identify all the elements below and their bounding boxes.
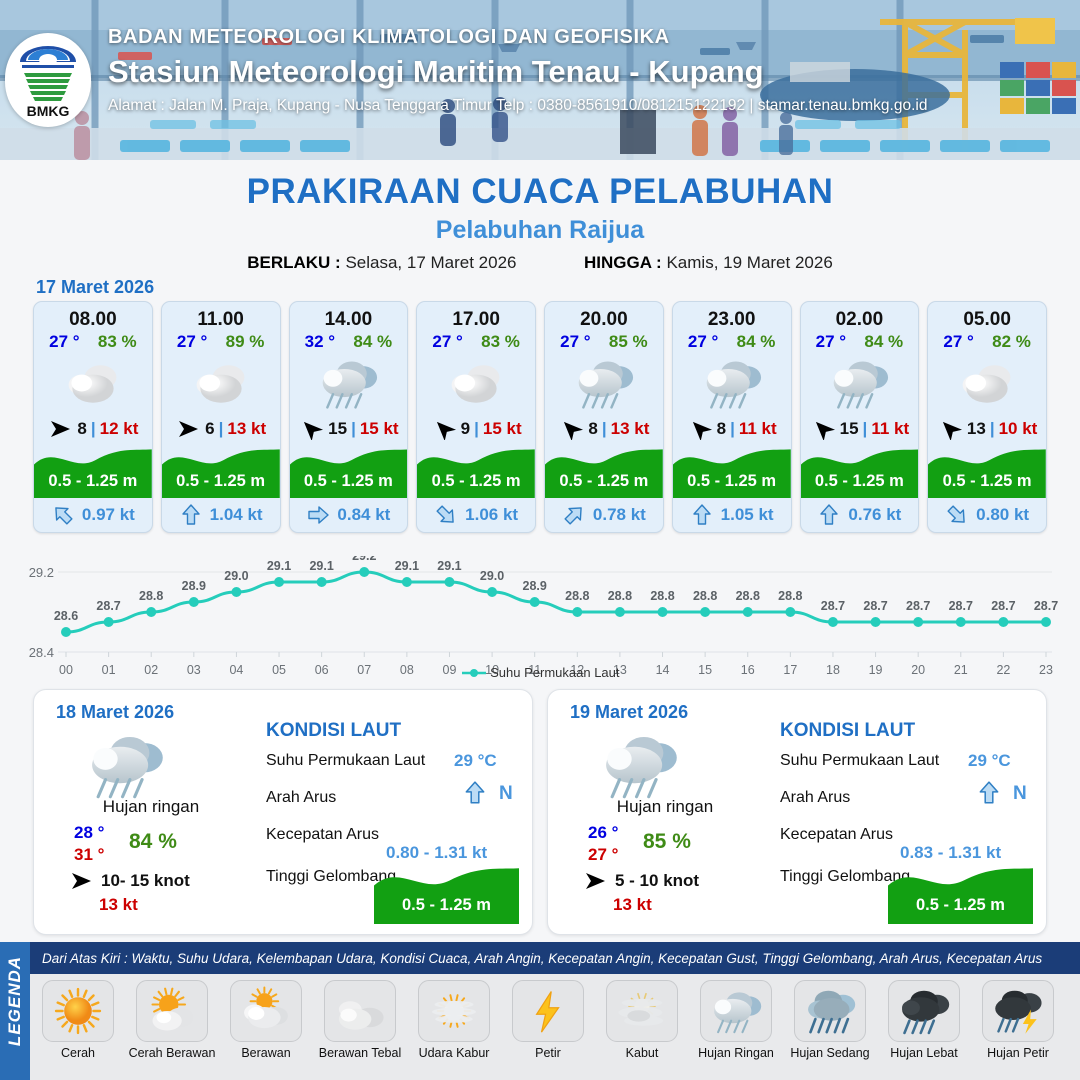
svg-text:28.7: 28.7	[821, 599, 845, 613]
card-wind-row: 13 | 10 kt	[928, 414, 1046, 444]
card-wind-speed: 8	[717, 419, 726, 439]
card-wave: 0.5 - 1.25 m	[290, 444, 408, 498]
daily-sst-value: 29 °C	[968, 751, 1011, 771]
daily-gust: 13 kt	[99, 895, 138, 915]
hourly-card[interactable]: 02.00 27 ° 84 % 15 | 11 kt 0.5 - 1.25 m	[800, 301, 920, 533]
legend-item-label: Udara Kabur	[410, 1046, 498, 1060]
daily-sea-title: KONDISI LAUT	[780, 720, 915, 742]
weather-icon-cloud-sun	[240, 985, 292, 1037]
legend-icon-row: Cerah Cerah Berawan Berawan Berawan Teba…	[34, 980, 1074, 1060]
daily-wave: 0.5 - 1.25 m	[374, 862, 519, 924]
daily-date: 19 Maret 2026	[570, 702, 688, 723]
chart-legend-label: Suhu Permukaan Laut	[490, 665, 619, 680]
weather-icon-light-rain	[318, 353, 378, 413]
svg-text:28.8: 28.8	[778, 589, 802, 603]
daily-current-dir-arrow	[976, 780, 1002, 811]
card-current-speed: 0.78 kt	[593, 505, 646, 525]
current-direction-arrow	[945, 503, 969, 527]
svg-text:28.6: 28.6	[54, 609, 78, 623]
card-wave: 0.5 - 1.25 m	[801, 444, 919, 498]
card-temp-hum-row: 27 ° 89 %	[162, 331, 280, 352]
svg-text:29.1: 29.1	[395, 559, 419, 573]
legend-item: Kabut	[598, 980, 686, 1060]
berlaku-value: Selasa, 17 Maret 2026	[345, 253, 516, 272]
card-wave-height: 0.5 - 1.25 m	[928, 472, 1046, 491]
card-humidity: 84 %	[864, 332, 903, 352]
weather-icon-light-rain	[574, 353, 634, 413]
legend-icon-box	[324, 980, 396, 1042]
wind-direction-arrow	[47, 418, 73, 440]
card-time: 20.00	[545, 302, 663, 331]
daily-humidity: 84 %	[129, 830, 177, 854]
card-current-speed: 0.97 kt	[82, 505, 135, 525]
legend-item-label: Petir	[504, 1046, 592, 1060]
weather-icon-fog	[616, 985, 668, 1037]
weather-icon-light-rain	[600, 726, 678, 804]
daily-current-dir-value: N	[499, 783, 513, 805]
legend-side-title: LEGENDA	[5, 947, 25, 1055]
card-gust: 15 kt	[360, 419, 399, 439]
card-wave-height: 0.5 - 1.25 m	[545, 472, 663, 491]
hourly-card[interactable]: 20.00 27 ° 85 % 8 | 13 kt 0.5 - 1.25 m	[544, 301, 664, 533]
card-temperature: 27 °	[432, 332, 462, 352]
card-temp-hum-row: 27 ° 82 %	[928, 331, 1046, 352]
card-wave: 0.5 - 1.25 m	[162, 444, 280, 498]
card-wind-row: 9 | 15 kt	[417, 414, 535, 444]
weather-icon-light-rain	[829, 353, 889, 413]
current-direction-arrow	[817, 503, 841, 527]
legend-icon-box	[794, 980, 866, 1042]
legend-item: Hujan Petir	[974, 980, 1062, 1060]
card-time: 02.00	[801, 302, 919, 331]
wind-direction-arrow	[431, 418, 457, 440]
card-wave: 0.5 - 1.25 m	[928, 444, 1046, 498]
page-header: BMKG BADAN METEOROLOGI KLIMATOLOGI DAN G…	[0, 0, 1080, 160]
hourly-card[interactable]: 08.00 27 ° 83 % 8 | 12 kt 0.5 - 1.25 m	[33, 301, 153, 533]
card-wind-speed: 13	[967, 419, 986, 439]
svg-text:BMKG: BMKG	[27, 103, 70, 119]
card-weather-icon	[417, 352, 535, 414]
card-time: 11.00	[162, 302, 280, 331]
legend-item-label: Cerah	[34, 1046, 122, 1060]
svg-text:28.8: 28.8	[693, 589, 717, 603]
daily-panel[interactable]: 18 Maret 2026 Hujan ringan 28 ° 31 ° 84 …	[33, 689, 533, 935]
card-wave-height: 0.5 - 1.25 m	[290, 472, 408, 491]
hingga-label: HINGGA :	[584, 253, 662, 272]
svg-text:28.4: 28.4	[29, 645, 54, 660]
card-wind-speed: 9	[461, 419, 470, 439]
legend-icon-box	[136, 980, 208, 1042]
card-current-speed: 0.84 kt	[337, 505, 390, 525]
card-wind-separator: |	[990, 419, 995, 439]
legend-item: Hujan Lebat	[880, 980, 968, 1060]
daily-temp-min: 26 °	[588, 823, 618, 843]
daily-gust: 13 kt	[613, 895, 652, 915]
card-current-row: 0.80 kt	[928, 498, 1046, 532]
wind-direction-arrow	[298, 418, 324, 440]
card-time: 17.00	[417, 302, 535, 331]
card-wave-height: 0.5 - 1.25 m	[801, 472, 919, 491]
card-weather-icon	[801, 352, 919, 414]
card-wave: 0.5 - 1.25 m	[34, 444, 152, 498]
card-gust: 10 kt	[999, 419, 1038, 439]
hourly-forecast-row: 08.00 27 ° 83 % 8 | 12 kt 0.5 - 1.25 m	[33, 301, 1047, 533]
agency-name: BADAN METEOROLOGI KLIMATOLOGI DAN GEOFIS…	[108, 26, 927, 49]
hourly-card[interactable]: 14.00 32 ° 84 % 15 | 15 kt 0.5 - 1.25 m	[289, 301, 409, 533]
card-time: 05.00	[928, 302, 1046, 331]
legend-item-label: Hujan Ringan	[692, 1046, 780, 1060]
card-weather-icon	[673, 352, 791, 414]
daily-date: 18 Maret 2026	[56, 702, 174, 723]
card-temperature: 27 °	[816, 332, 846, 352]
card-current-speed: 1.06 kt	[465, 505, 518, 525]
card-current-row: 1.04 kt	[162, 498, 280, 532]
card-current-row: 1.06 kt	[417, 498, 535, 532]
daily-wind-speed: 10- 15 knot	[101, 871, 190, 891]
current-direction-arrow	[51, 503, 75, 527]
card-temp-hum-row: 27 ° 83 %	[417, 331, 535, 352]
current-direction-arrow	[562, 503, 586, 527]
svg-text:29.0: 29.0	[480, 569, 504, 583]
hourly-card[interactable]: 17.00 27 ° 83 % 9 | 15 kt 0.5 - 1.25 m	[416, 301, 536, 533]
wind-direction-arrow	[175, 418, 201, 440]
svg-text:29.1: 29.1	[267, 559, 291, 573]
chart-legend: Suhu Permukaan Laut	[0, 665, 1080, 681]
svg-text:28.8: 28.8	[650, 589, 674, 603]
card-time: 14.00	[290, 302, 408, 331]
card-humidity: 84 %	[353, 332, 392, 352]
card-current-speed: 0.80 kt	[976, 505, 1029, 525]
daily-wind-speed: 5 - 10 knot	[615, 871, 699, 891]
current-direction-arrow	[179, 503, 203, 527]
card-wind-speed: 8	[588, 419, 597, 439]
daily-current-speed-value: 0.80 - 1.31 kt	[386, 843, 487, 863]
card-wind-speed: 8	[77, 419, 86, 439]
card-weather-icon	[545, 352, 663, 414]
wind-direction-arrow	[687, 418, 713, 440]
card-gust: 11 kt	[739, 419, 777, 439]
svg-text:28.7: 28.7	[991, 599, 1015, 613]
svg-text:28.9: 28.9	[182, 579, 206, 593]
card-wind-separator: |	[351, 419, 356, 439]
weather-icon-thunderstorm	[992, 985, 1044, 1037]
svg-text:28.8: 28.8	[736, 589, 760, 603]
hourly-card[interactable]: 05.00 27 ° 82 % 13 | 10 kt 0.5 - 1.25 m	[927, 301, 1047, 533]
svg-text:28.8: 28.8	[608, 589, 632, 603]
card-current-speed: 0.76 kt	[848, 505, 901, 525]
legend-item: Berawan	[222, 980, 310, 1060]
card-wave: 0.5 - 1.25 m	[417, 444, 535, 498]
svg-text:29.1: 29.1	[309, 559, 333, 573]
current-direction-arrow	[976, 780, 1002, 806]
svg-text:29.2: 29.2	[29, 565, 54, 580]
current-direction-arrow	[434, 503, 458, 527]
card-current-row: 0.78 kt	[545, 498, 663, 532]
legend-item: Cerah Berawan	[128, 980, 216, 1060]
legend-icon-box	[888, 980, 960, 1042]
card-current-row: 0.76 kt	[801, 498, 919, 532]
card-temp-hum-row: 27 ° 84 %	[673, 331, 791, 352]
card-humidity: 82 %	[992, 332, 1031, 352]
weather-icon-sun-cloud	[146, 985, 198, 1037]
svg-text:28.7: 28.7	[96, 599, 120, 613]
card-humidity: 85 %	[609, 332, 648, 352]
weather-icon-cloudy	[191, 353, 251, 413]
card-humidity: 83 %	[98, 332, 137, 352]
card-wind-row: 6 | 13 kt	[162, 414, 280, 444]
bmkg-logo-mark: BMKG	[12, 40, 84, 120]
svg-text:29.0: 29.0	[224, 569, 248, 583]
legend-item: Hujan Ringan	[692, 980, 780, 1060]
hourly-card[interactable]: 11.00 27 ° 89 % 6 | 13 kt 0.5 - 1.25 m	[161, 301, 281, 533]
svg-text:28.7: 28.7	[1034, 599, 1058, 613]
legend-side-bar: LEGENDA	[0, 942, 30, 1080]
card-wind-row: 15 | 11 kt	[801, 414, 919, 444]
svg-text:28.7: 28.7	[863, 599, 887, 613]
hourly-card[interactable]: 23.00 27 ° 84 % 8 | 11 kt 0.5 - 1.25 m	[672, 301, 792, 533]
wind-direction-arrow	[68, 870, 94, 892]
legend-item-label: Hujan Lebat	[880, 1046, 968, 1060]
svg-text:29.2: 29.2	[352, 556, 376, 563]
daily-current-speed-value: 0.83 - 1.31 kt	[900, 843, 1001, 863]
daily-current-dir-value: N	[1013, 783, 1027, 805]
card-humidity: 83 %	[481, 332, 520, 352]
hourly-date-label: 17 Maret 2026	[36, 277, 154, 298]
daily-panel[interactable]: 19 Maret 2026 Hujan ringan 26 ° 27 ° 85 …	[547, 689, 1047, 935]
weather-icon-moderate-rain	[804, 985, 856, 1037]
card-wave-height: 0.5 - 1.25 m	[417, 472, 535, 491]
legend-item: Cerah	[34, 980, 122, 1060]
daily-temp-max: 27 °	[588, 845, 618, 865]
hingga-value: Kamis, 19 Maret 2026	[666, 253, 832, 272]
weather-icon-light-rain	[710, 985, 762, 1037]
berlaku-label: BERLAKU :	[247, 253, 341, 272]
daily-wind-row: 5 - 10 knot	[582, 870, 699, 892]
wind-direction-arrow	[558, 418, 584, 440]
current-direction-arrow	[306, 503, 330, 527]
card-wave-height: 0.5 - 1.25 m	[34, 472, 152, 491]
page-subtitle: Pelabuhan Raijua	[0, 216, 1080, 245]
legend-note: Dari Atas Kiri : Waktu, Suhu Udara, Kele…	[42, 951, 1042, 966]
station-address: Alamat : Jalan M. Praja, Kupang - Nusa T…	[108, 97, 927, 115]
weather-icon-light-rain	[86, 726, 164, 804]
legend-icon-box	[512, 980, 584, 1042]
current-direction-arrow	[462, 780, 488, 806]
card-temperature: 32 °	[305, 332, 335, 352]
weather-icon-light-rain	[702, 353, 762, 413]
weather-icon-heavy-rain	[898, 985, 950, 1037]
daily-sst-value: 29 °C	[454, 751, 497, 771]
daily-temp-min: 28 °	[74, 823, 104, 843]
daily-temp-max: 31 °	[74, 845, 104, 865]
legend-item: Berawan Tebal	[316, 980, 404, 1060]
card-wind-separator: |	[730, 419, 735, 439]
card-wave-height: 0.5 - 1.25 m	[673, 472, 791, 491]
bmkg-logo: BMKG	[5, 33, 91, 127]
card-wind-separator: |	[474, 419, 479, 439]
daily-wave-height: 0.5 - 1.25 m	[888, 896, 1033, 915]
daily-wind-row: 10- 15 knot	[68, 870, 190, 892]
card-temperature: 27 °	[688, 332, 718, 352]
card-weather-icon	[928, 352, 1046, 414]
card-wave-height: 0.5 - 1.25 m	[162, 472, 280, 491]
weather-icon-haze	[428, 985, 480, 1037]
header-text-block: BADAN METEOROLOGI KLIMATOLOGI DAN GEOFIS…	[108, 26, 927, 115]
weather-icon-clouds	[334, 985, 386, 1037]
weather-icon-cloudy	[957, 353, 1017, 413]
card-weather-icon	[34, 352, 152, 414]
legend-item-label: Berawan	[222, 1046, 310, 1060]
card-wind-separator: |	[602, 419, 607, 439]
daily-label-sst: Suhu Permukaan Laut	[266, 752, 425, 770]
svg-text:28.8: 28.8	[565, 589, 589, 603]
current-direction-arrow	[690, 503, 714, 527]
card-humidity: 84 %	[737, 332, 776, 352]
card-temperature: 27 °	[177, 332, 207, 352]
svg-text:28.8: 28.8	[139, 589, 163, 603]
card-wind-speed: 15	[840, 419, 859, 439]
legend-item: Udara Kabur	[410, 980, 498, 1060]
legend-icon-box	[700, 980, 772, 1042]
card-wave: 0.5 - 1.25 m	[545, 444, 663, 498]
card-current-speed: 1.05 kt	[721, 505, 774, 525]
station-name: Stasiun Meteorologi Maritim Tenau - Kupa…	[108, 54, 927, 90]
card-humidity: 89 %	[226, 332, 265, 352]
card-wind-speed: 6	[205, 419, 214, 439]
legend-item: Hujan Sedang	[786, 980, 874, 1060]
card-temp-hum-row: 27 ° 83 %	[34, 331, 152, 352]
daily-label-current-dir: Arah Arus	[266, 789, 336, 807]
svg-text:28.7: 28.7	[906, 599, 930, 613]
daily-condition: Hujan ringan	[56, 797, 246, 817]
legend-item-label: Hujan Petir	[974, 1046, 1062, 1060]
card-current-speed: 1.04 kt	[210, 505, 263, 525]
card-gust: 12 kt	[100, 419, 139, 439]
card-wave: 0.5 - 1.25 m	[673, 444, 791, 498]
legend-item-label: Berawan Tebal	[316, 1046, 404, 1060]
wind-direction-arrow	[582, 870, 608, 892]
card-current-row: 0.84 kt	[290, 498, 408, 532]
daily-wave: 0.5 - 1.25 m	[888, 862, 1033, 924]
card-temp-hum-row: 27 ° 84 %	[801, 331, 919, 352]
card-temperature: 27 °	[560, 332, 590, 352]
card-temperature: 27 °	[943, 332, 973, 352]
card-gust: 13 kt	[227, 419, 266, 439]
legend-icon-box	[230, 980, 302, 1042]
daily-humidity: 85 %	[643, 830, 691, 854]
legend-icon-box	[982, 980, 1054, 1042]
card-weather-icon	[290, 352, 408, 414]
card-wind-separator: |	[91, 419, 96, 439]
legend-item-label: Hujan Sedang	[786, 1046, 874, 1060]
card-wind-row: 15 | 15 kt	[290, 414, 408, 444]
legend-note-bar: Dari Atas Kiri : Waktu, Suhu Udara, Kele…	[30, 942, 1080, 974]
daily-condition: Hujan ringan	[570, 797, 760, 817]
daily-label-current-dir: Arah Arus	[780, 789, 850, 807]
card-time: 08.00	[34, 302, 152, 331]
daily-label-current-speed: Kecepatan Arus	[780, 826, 893, 844]
legend-item-label: Cerah Berawan	[128, 1046, 216, 1060]
card-wind-row: 8 | 13 kt	[545, 414, 663, 444]
card-time: 23.00	[673, 302, 791, 331]
svg-text:28.9: 28.9	[523, 579, 547, 593]
card-gust: 15 kt	[483, 419, 522, 439]
legend-icon-box	[418, 980, 490, 1042]
weather-icon-lightning	[522, 985, 574, 1037]
daily-current-dir-arrow	[462, 780, 488, 811]
legend-item: Petir	[504, 980, 592, 1060]
weather-icon-sun	[52, 985, 104, 1037]
card-temp-hum-row: 27 ° 85 %	[545, 331, 663, 352]
card-wind-row: 8 | 11 kt	[673, 414, 791, 444]
wind-direction-arrow	[810, 418, 836, 440]
wind-direction-arrow	[937, 418, 963, 440]
daily-label-current-speed: Kecepatan Arus	[266, 826, 379, 844]
daily-sea-title: KONDISI LAUT	[266, 720, 401, 742]
legend-icon-box	[606, 980, 678, 1042]
daily-wave-height: 0.5 - 1.25 m	[374, 896, 519, 915]
card-wind-separator: |	[219, 419, 224, 439]
card-temperature: 27 °	[49, 332, 79, 352]
legend-section: LEGENDA Dari Atas Kiri : Waktu, Suhu Uda…	[0, 942, 1080, 1080]
card-wind-separator: |	[863, 419, 868, 439]
card-gust: 13 kt	[611, 419, 650, 439]
card-gust: 11 kt	[871, 419, 909, 439]
svg-text:28.7: 28.7	[949, 599, 973, 613]
page-title: PRAKIRAAN CUACA PELABUHAN	[0, 172, 1080, 212]
card-current-row: 0.97 kt	[34, 498, 152, 532]
svg-text:29.1: 29.1	[437, 559, 461, 573]
weather-icon-cloudy	[63, 353, 123, 413]
daily-label-sst: Suhu Permukaan Laut	[780, 752, 939, 770]
legend-item-label: Kabut	[598, 1046, 686, 1060]
card-wind-speed: 15	[328, 419, 347, 439]
card-wind-row: 8 | 12 kt	[34, 414, 152, 444]
chart-legend-marker	[461, 666, 487, 681]
card-temp-hum-row: 32 ° 84 %	[290, 331, 408, 352]
validity-row: BERLAKU : Selasa, 17 Maret 2026 HINGGA :…	[0, 253, 1080, 273]
legend-icon-box	[42, 980, 114, 1042]
card-current-row: 1.05 kt	[673, 498, 791, 532]
weather-icon-cloudy	[446, 353, 506, 413]
daily-forecast-row: 18 Maret 2026 Hujan ringan 28 ° 31 ° 84 …	[33, 689, 1047, 935]
card-weather-icon	[162, 352, 280, 414]
